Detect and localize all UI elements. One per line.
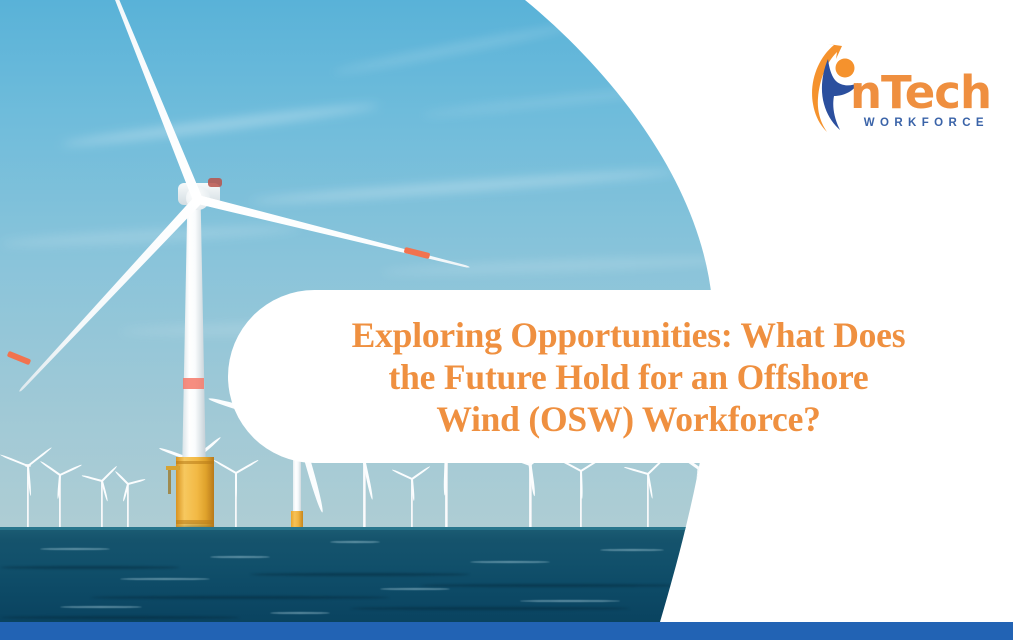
foundation-band: [176, 520, 214, 524]
foundation-ladder: [168, 470, 171, 494]
horizon-line: [0, 527, 760, 530]
turbine-foundation: [176, 457, 214, 529]
tower-marker-band: [183, 378, 204, 389]
logo-tagline: WORKFORCE: [850, 117, 991, 129]
bottom-accent-bar: [0, 622, 1013, 640]
logo-wordmark: nTech: [850, 70, 991, 115]
banner-graphic: Exploring Opportunities: What Does the F…: [0, 0, 1013, 640]
headline-line-3: Wind (OSW) Workforce?: [256, 398, 1001, 440]
headline-line-2: the Future Hold for an Offshore: [256, 356, 1001, 398]
logo-wordmark-group: nTech WORKFORCE: [850, 70, 991, 129]
page-title: Exploring Opportunities: What Does the F…: [228, 314, 1001, 440]
foundation-band: [176, 461, 214, 464]
headline-line-1: Exploring Opportunities: What Does: [256, 314, 1001, 356]
ntech-workforce-logo[interactable]: nTech WORKFORCE: [800, 42, 990, 142]
nacelle-marker: [208, 178, 222, 187]
headline-panel: Exploring Opportunities: What Does the F…: [228, 290, 1013, 463]
